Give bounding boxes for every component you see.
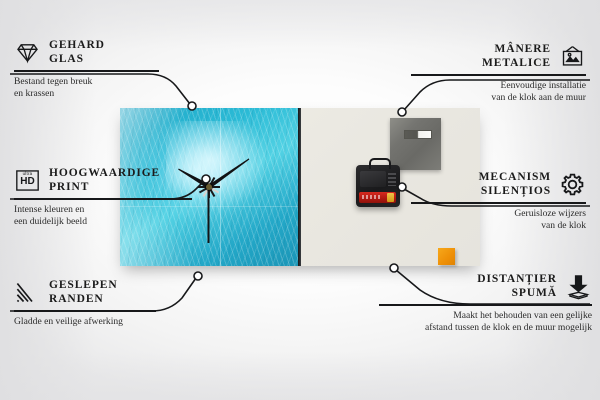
callout-manere-metalice[interactable]: MÂNEREMETALICE Eenvoudige installatievan…: [411, 42, 586, 104]
panel-edge: [298, 108, 301, 266]
callout-rule: [379, 304, 592, 306]
callout-desc: Bestand tegen breuken krassen: [14, 76, 174, 101]
clock-movement-box: [356, 165, 400, 207]
ultra-hd-icon: ultra HD: [14, 167, 41, 194]
gear-icon: [559, 171, 586, 198]
callout-title: GESLEPENRANDEN: [49, 278, 118, 306]
callout-title: DISTANȚIERSPUMĂ: [477, 272, 557, 300]
callout-hoogwaardige-print[interactable]: ultra HD HOOGWAARDIGEPRINT Intense kleur…: [14, 166, 189, 228]
picture-frame-icon: [559, 43, 586, 70]
callout-rule: [14, 70, 159, 72]
metal-hanger-plate: [390, 118, 441, 170]
callout-distantier-spuma[interactable]: DISTANȚIERSPUMĂ Maakt het behouden van e…: [377, 272, 592, 334]
callout-rule: [14, 310, 156, 312]
clock-pivot: [206, 184, 212, 190]
diamond-icon: [14, 39, 41, 66]
hd-label: HD: [14, 176, 41, 187]
callout-rule: [14, 198, 192, 200]
callout-desc: Gladde en veilige afwerking: [14, 316, 184, 328]
battery: [359, 192, 396, 203]
clock-minute-hand: [208, 157, 250, 188]
hanger-slot: [404, 130, 432, 139]
movement-body: [360, 171, 386, 187]
callout-title: MÂNEREMETALICE: [482, 42, 551, 70]
infographic-canvas: GEHARDGLAS Bestand tegen breuken krassen…: [0, 0, 600, 400]
beveled-edges-icon: [14, 279, 41, 306]
callout-desc: Eenvoudige installatievan de klok aan de…: [411, 80, 586, 105]
foam-spacer: [438, 248, 455, 265]
callout-gehard-glas[interactable]: GEHARDGLAS Bestand tegen breuken krassen: [14, 38, 174, 100]
callout-title: GEHARDGLAS: [49, 38, 105, 66]
callout-mecanism-silentios[interactable]: MECANISMSILENȚIOS Geruisloze wijzersvan …: [411, 170, 586, 232]
callout-desc: Intense kleuren eneen duidelijk beeld: [14, 204, 189, 229]
callout-title: MECANISMSILENȚIOS: [479, 170, 551, 198]
callout-desc: Geruisloze wijzersvan de klok: [411, 208, 586, 233]
callout-title: HOOGWAARDIGEPRINT: [49, 166, 160, 194]
callout-desc: Maakt het behouden van een gelijkeafstan…: [377, 310, 592, 335]
callout-rule: [411, 202, 586, 204]
callout-geslepen-randen[interactable]: GESLEPENRANDEN Gladde en veilige afwerki…: [14, 278, 184, 328]
callout-rule: [411, 74, 586, 76]
spacer-arrow-icon: [565, 273, 592, 300]
movement-vents: [388, 173, 396, 186]
movement-hook: [369, 158, 391, 169]
